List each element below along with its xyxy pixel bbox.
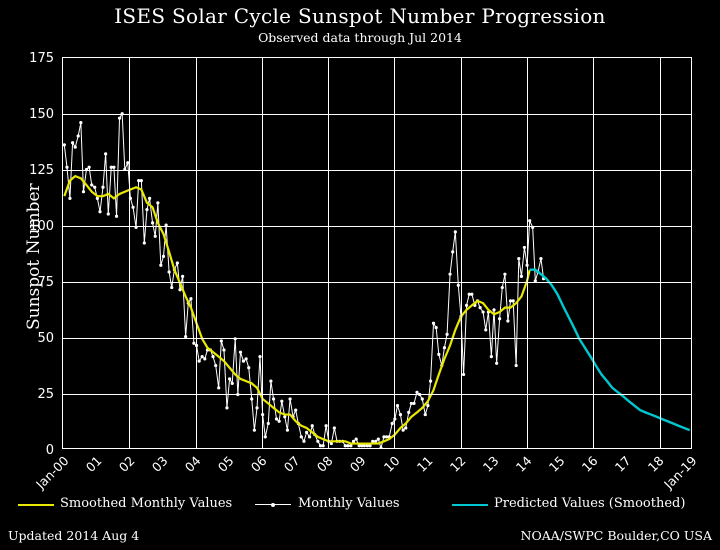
x-tick-label-07: 07 (281, 453, 303, 475)
gridline-v-18 (660, 58, 661, 448)
x-tick-label-jan-00: Jan-00 (33, 453, 72, 492)
legend-swatch-smoothed (18, 504, 54, 506)
y-tick-label-150: 150 (14, 107, 54, 122)
y-tick-label-75: 75 (14, 275, 54, 290)
series-monthly-values (63, 112, 545, 448)
gridline-h-150 (63, 114, 691, 115)
series-predicted-values (530, 270, 690, 430)
x-tick-label-13: 13 (479, 453, 501, 475)
legend-label-predicted: Predicted Values (Smoothed) (494, 496, 685, 511)
legend-marker-monthly-icon (267, 499, 279, 511)
x-tick-label-15: 15 (546, 453, 568, 475)
legend-label-smoothed: Smoothed Monthly Values (60, 496, 232, 511)
x-tick-label-14: 14 (512, 453, 534, 475)
gridline-h-100 (63, 226, 691, 227)
gridline-v-16 (593, 58, 594, 448)
credit-text: NOAA/SWPC Boulder,CO USA (521, 528, 712, 543)
x-tick-label-17: 17 (612, 453, 634, 475)
x-tick-label-16: 16 (579, 453, 601, 475)
legend-swatch-predicted (452, 504, 488, 506)
updated-stamp: Updated 2014 Aug 4 (8, 528, 139, 543)
x-tick-label-08: 08 (314, 453, 336, 475)
x-tick-label-12: 12 (446, 453, 468, 475)
plot-area (62, 57, 692, 449)
page-title: ISES Solar Cycle Sunspot Number Progress… (0, 4, 720, 28)
x-tick-label-18: 18 (645, 453, 667, 475)
y-tick-label-125: 125 (14, 163, 54, 178)
y-tick-label-0: 0 (14, 443, 54, 458)
y-axis-title: Sunspot Number (24, 183, 44, 330)
y-tick-label-100: 100 (14, 219, 54, 234)
chart-legend: Smoothed Monthly Values Monthly Values P… (0, 496, 720, 516)
x-tick-label-06: 06 (248, 453, 270, 475)
gridline-v-06 (262, 58, 263, 448)
gridline-v-14 (527, 58, 528, 448)
series-canvas (63, 58, 691, 448)
y-tick-label-50: 50 (14, 331, 54, 346)
chart-subtitle: Observed data through Jul 2014 (0, 30, 720, 45)
chart-root: ISES Solar Cycle Sunspot Number Progress… (0, 0, 720, 550)
x-tick-label-10: 10 (380, 453, 402, 475)
gridline-h-125 (63, 170, 691, 171)
gridline-v-10 (394, 58, 395, 448)
gridline-v-02 (129, 58, 130, 448)
x-tick-label-03: 03 (149, 453, 171, 475)
x-tick-label-04: 04 (182, 453, 204, 475)
gridline-v-04 (196, 58, 197, 448)
gridline-h-25 (63, 394, 691, 395)
x-tick-label-09: 09 (347, 453, 369, 475)
gridline-v-08 (328, 58, 329, 448)
gridline-h-50 (63, 338, 691, 339)
x-tick-label-05: 05 (215, 453, 237, 475)
legend-label-monthly: Monthly Values (298, 496, 400, 511)
y-tick-label-25: 25 (14, 387, 54, 402)
x-tick-label-jan-19: Jan-19 (661, 453, 700, 492)
x-tick-label-01: 01 (83, 453, 105, 475)
x-tick-label-11: 11 (413, 453, 435, 475)
gridline-h-75 (63, 282, 691, 283)
y-tick-label-175: 175 (14, 51, 54, 66)
gridline-v-12 (461, 58, 462, 448)
x-tick-label-02: 02 (116, 453, 138, 475)
